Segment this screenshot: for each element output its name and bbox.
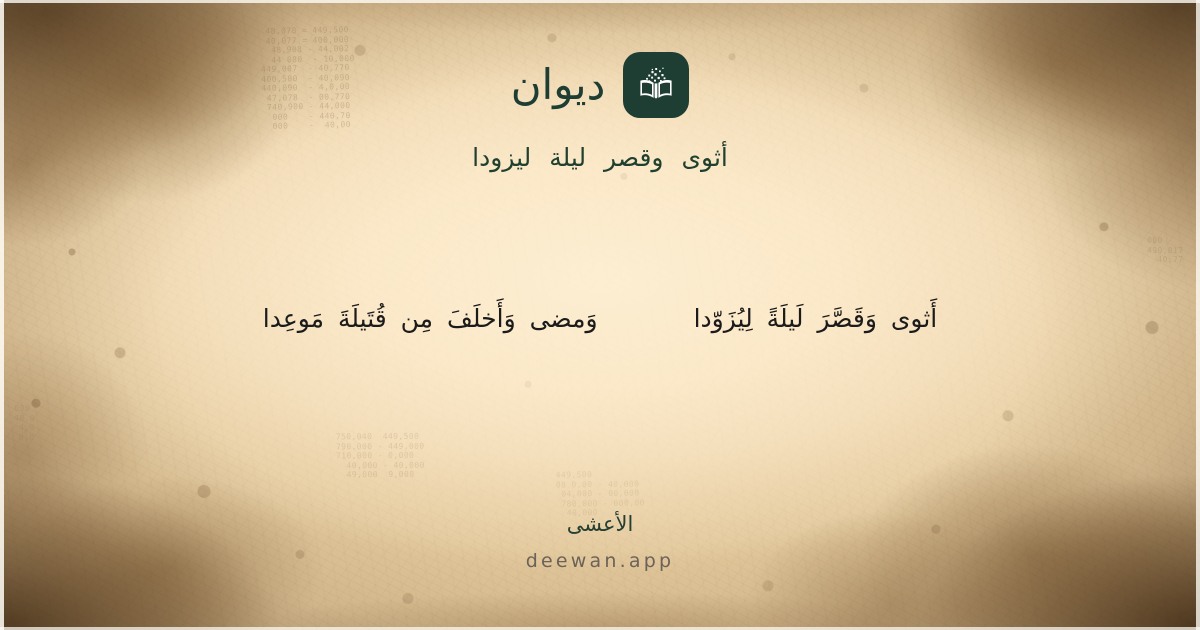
app-name: ديوان xyxy=(511,64,606,106)
app-logo-tile xyxy=(623,52,689,118)
verse-hemistich-second: وَمضى وَأَخلَفَ مِن قُتَيلَةَ مَوعِدا xyxy=(263,300,598,338)
poet-name: الأعشى xyxy=(0,511,1200,538)
poem-share-card: 48,078 = 449,500 40,077 = 400,000 48,908… xyxy=(0,0,1200,630)
verse-hemistich-first: أَثوى وَقَصَّرَ لَيلَةً لِيُزَوّدا xyxy=(694,300,938,338)
brand-header: ديوان xyxy=(511,52,690,118)
card-footer: الأعشى deewan.app xyxy=(0,511,1200,572)
poem-title: أثوى وقصر ليلة ليزودا xyxy=(472,140,728,175)
card-content: ديوان أثوى وقصر ليلة ليزودا أَثوى وَقَصَ… xyxy=(0,0,1200,630)
site-url: deewan.app xyxy=(0,550,1200,572)
verse-line: أَثوى وَقَصَّرَ لَيلَةً لِيُزَوّدا وَمضى… xyxy=(0,300,1200,338)
open-book-sparkles-icon xyxy=(635,64,677,106)
